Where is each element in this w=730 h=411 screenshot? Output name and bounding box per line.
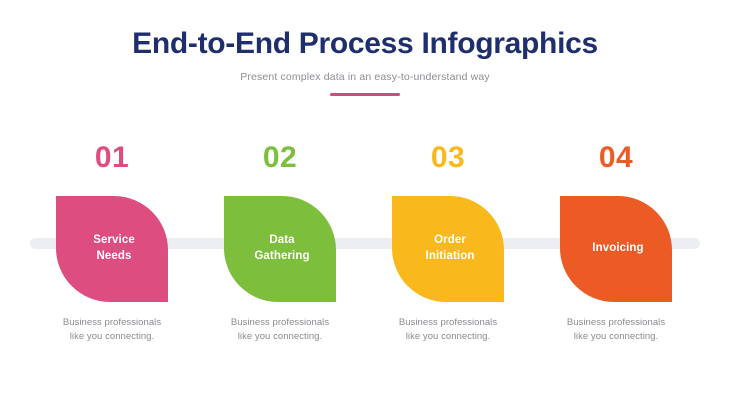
process-step-3[interactable]: 03 Order Initiation Business professiona… — [364, 0, 532, 411]
step-label-4: Invoicing — [592, 241, 643, 257]
step-label-3: Order Initiation — [426, 233, 475, 264]
step-caption-2: Business professionals like you connecti… — [196, 316, 364, 344]
process-step-1[interactable]: 01 Service Needs Business professionals … — [28, 0, 196, 411]
step-caption-4: Business professionals like you connecti… — [532, 316, 700, 344]
step-caption-3: Business professionals like you connecti… — [364, 316, 532, 344]
step-petal-2[interactable]: Data Gathering — [224, 196, 336, 302]
step-caption-1: Business professionals like you connecti… — [28, 316, 196, 344]
process-steps: 01 Service Needs Business professionals … — [0, 0, 730, 411]
step-petal-4[interactable]: Invoicing — [560, 196, 672, 302]
step-petal-1[interactable]: Service Needs — [56, 196, 168, 302]
infographic-slide: End-to-End Process Infographics Present … — [0, 0, 730, 411]
step-petal-3[interactable]: Order Initiation — [392, 196, 504, 302]
step-number-4: 04 — [560, 143, 672, 173]
step-label-2: Data Gathering — [254, 233, 309, 264]
process-step-4[interactable]: 04 Invoicing Business professionals like… — [532, 0, 700, 411]
step-number-3: 03 — [392, 143, 504, 173]
step-label-1: Service Needs — [93, 233, 135, 264]
process-step-2[interactable]: 02 Data Gathering Business professionals… — [196, 0, 364, 411]
step-number-2: 02 — [224, 143, 336, 173]
step-number-1: 01 — [56, 143, 168, 173]
